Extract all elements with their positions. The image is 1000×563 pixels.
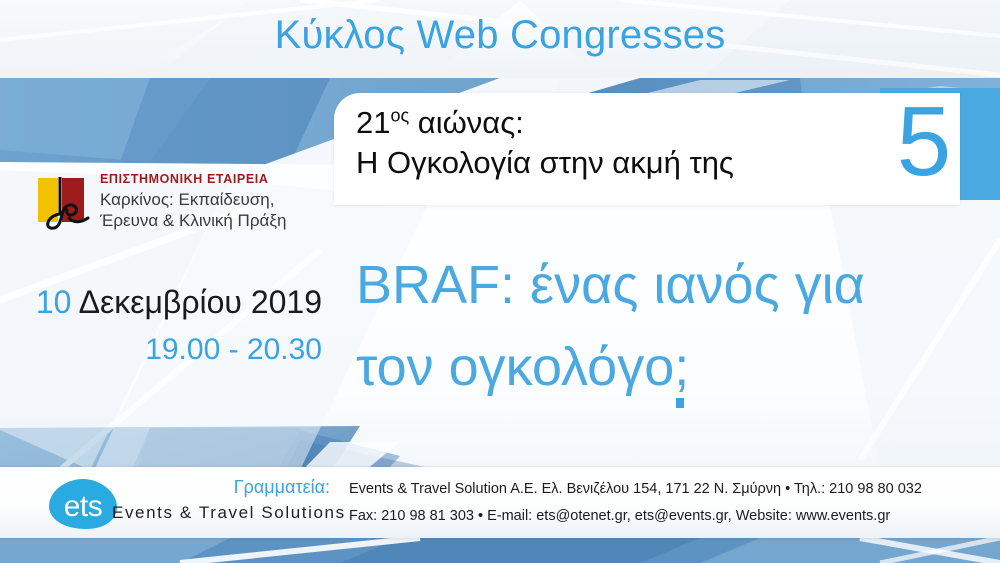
svg-text:ets: ets [64, 490, 103, 523]
contact-email-line: Fax: 210 98 81 303 • E-mail: ets@otenet.… [349, 508, 890, 525]
talk-title-line-2: τον ογκολόγο; [356, 326, 956, 408]
series-title-line-1: 21ος αιώνας: [356, 105, 524, 141]
society-subtitle-line-2: Έρευνα & Κλινική Πράξη [100, 211, 286, 231]
event-time: 19.00 - 20.30 [0, 332, 322, 368]
congress-poster: Κύκλος Web Congresses 21ος αιώνας: Η Ογκ… [0, 0, 1000, 563]
page-title: Κύκλος Web Congresses [0, 12, 1000, 58]
talk-title: BRAF: ένας ιανός για τον ογκολόγο; [356, 244, 956, 408]
contact-address-line: Events & Travel Solution A.E. Ελ. Βενιζέ… [349, 481, 922, 498]
event-date-month-year: Δεκεμβρίου 2019 [71, 284, 322, 320]
event-date-day: 10 [36, 284, 72, 320]
series-title-line-2: Η Ογκολογία στην ακμή της [356, 145, 734, 181]
society-subtitle-line-1: Καρκίνος: Εκπαίδευση, [100, 190, 274, 210]
ets-wordmark: Events & Travel Solutions [112, 503, 346, 523]
ribbon-logo-icon [36, 174, 94, 232]
century-number: 21 [356, 105, 390, 140]
talk-title-line-1: BRAF: ένας ιανός για [356, 244, 956, 326]
century-word: αιώνας: [409, 105, 524, 140]
issue-number-label: 5 [884, 86, 964, 196]
century-ordinal-suffix: ος [390, 106, 409, 126]
series-title-panel: 21ος αιώνας: Η Ογκολογία στην ακμή της [334, 93, 960, 205]
society-block: ΕΠΙΣΤΗΜΟΝΙΚΗ ΕΤΑΙΡΕΙΑ Καρκίνος: Εκπαίδευ… [36, 172, 316, 244]
event-date: 10 Δεκεμβρίου 2019 [0, 283, 322, 321]
ets-logo-icon: ets [48, 478, 118, 530]
secretariat-label: Γραμματεία: [140, 477, 330, 498]
society-name: ΕΠΙΣΤΗΜΟΝΙΚΗ ΕΤΑΙΡΕΙΑ [100, 172, 268, 186]
